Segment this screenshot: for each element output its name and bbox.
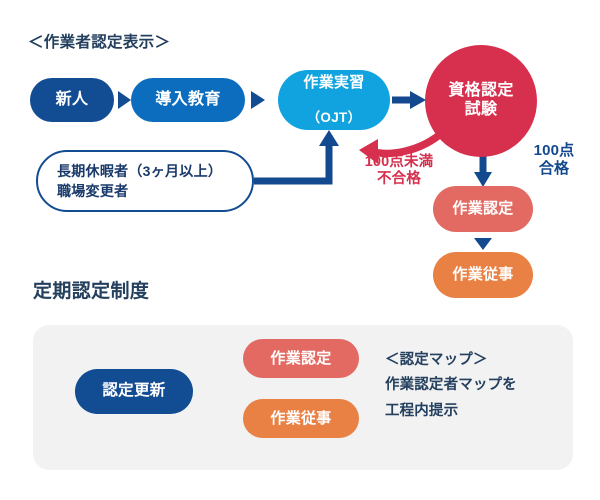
- triangle-right-icon: [251, 91, 265, 109]
- node-ojt-sub-label: （OJT）: [303, 110, 364, 126]
- node-ojt[interactable]: 作業実習 （OJT）: [278, 70, 390, 130]
- node-certification-renewal[interactable]: 認定更新: [75, 369, 193, 414]
- node-work-certification-bottom[interactable]: 作業認定: [243, 339, 359, 378]
- node-ojt-main-label: 作業実習: [303, 74, 364, 92]
- node-work-certification-top[interactable]: 作業認定: [433, 186, 533, 232]
- node-work-engagement-bottom[interactable]: 作業従事: [243, 399, 359, 438]
- node-qualification-exam[interactable]: 資格認定 試験: [425, 45, 537, 157]
- node-work-engagement-top[interactable]: 作業従事: [433, 252, 533, 298]
- certification-map-note: ＜認定マップ＞ 作業認定者マップを 工程内提示: [385, 348, 585, 424]
- diagram-canvas: ＜作業者認定表示＞ 定期認定制度 新人 導入教育 作業実習 （OJT） 資格認定…: [0, 0, 600, 500]
- label-fail-condition: 100点未満 不合格: [347, 154, 451, 189]
- triangle-right-icon: [118, 91, 131, 109]
- triangle-down-icon: [474, 238, 492, 250]
- page-title-worker-certification: ＜作業者認定表示＞: [28, 30, 170, 52]
- arrow-exam-to-certification: [474, 155, 492, 187]
- section-title-periodic-system: 定期認定制度: [33, 276, 149, 303]
- node-long-leave-or-transfer[interactable]: 長期休暇者（3ヶ月以上） 職場変更者: [36, 150, 254, 212]
- arrow-ojt-to-exam: [392, 91, 426, 109]
- node-newcomer[interactable]: 新人: [30, 78, 114, 122]
- node-intro-education[interactable]: 導入教育: [131, 78, 245, 122]
- label-pass-condition: 100点 合格: [519, 142, 589, 178]
